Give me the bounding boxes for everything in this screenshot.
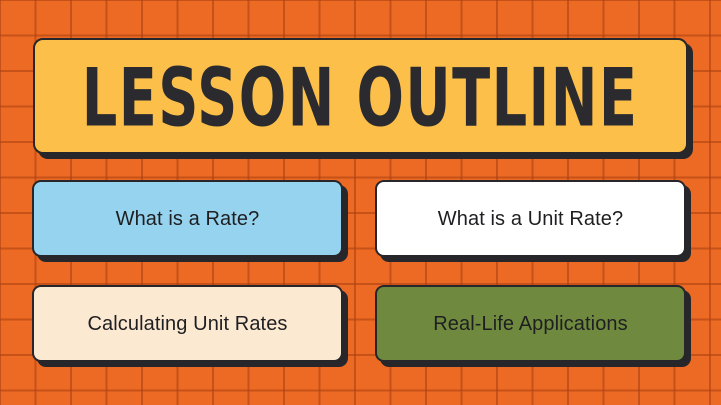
lesson-outline-slide: LESSON OUTLINE What is a Rate? What is a…	[0, 0, 721, 405]
outline-item-what-is-a-unit-rate[interactable]: What is a Unit Rate?	[375, 180, 686, 257]
outline-item-real-life-applications[interactable]: Real-Life Applications	[375, 285, 686, 362]
outline-item-label: What is a Unit Rate?	[438, 208, 623, 230]
outline-item-label: Real-Life Applications	[433, 313, 628, 335]
outline-item-calculating-unit-rates[interactable]: Calculating Unit Rates	[32, 285, 343, 362]
outline-item-what-is-a-rate[interactable]: What is a Rate?	[32, 180, 343, 257]
lesson-outline-title-card: LESSON OUTLINE	[33, 38, 688, 154]
outline-item-label: Calculating Unit Rates	[87, 313, 287, 335]
outline-item-label: What is a Rate?	[116, 208, 260, 230]
page-title: LESSON OUTLINE	[82, 53, 639, 138]
